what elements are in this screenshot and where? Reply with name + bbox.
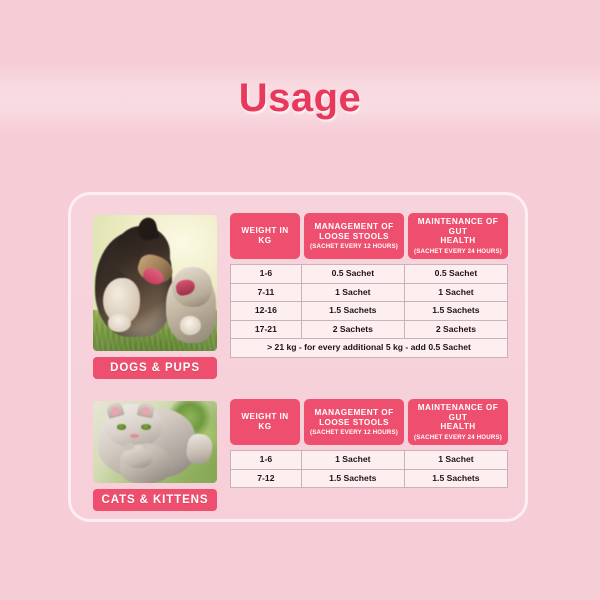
cats-header-gut-health-sub: (SACHET EVERY 24 HOURS) — [414, 434, 502, 441]
dogs-photo-artwork — [93, 215, 217, 351]
cell-gut-health: 1.5 Sachets — [404, 469, 507, 488]
dogs-table-note: > 21 kg - for every additional 5 kg - ad… — [231, 339, 508, 358]
cell-loose-stools: 1.5 Sachets — [301, 302, 404, 321]
dogs-badge: DOGS & PUPS — [93, 357, 217, 379]
cats-dosage-table: 1-6 1 Sachet 1 Sachet 7-12 1.5 Sachets 1… — [230, 450, 508, 488]
cell-gut-health: 1 Sachet — [404, 451, 507, 470]
cats-header-weight-line1: WEIGHT IN — [241, 412, 288, 422]
table-row: 7-11 1 Sachet 1 Sachet — [231, 283, 508, 302]
cats-animal-block: CATS & KITTENS — [93, 401, 217, 511]
cats-header-gut-health: MAINTENANCE OF GUT HEALTH (SACHET EVERY … — [408, 399, 508, 445]
usage-card: DOGS & PUPS WEIGHT IN KG MANAGEMENT OF L… — [68, 192, 528, 522]
cell-weight: 7-12 — [231, 469, 302, 488]
dogs-table-header-row: WEIGHT IN KG MANAGEMENT OF LOOSE STOOLS … — [230, 213, 508, 259]
table-note-row: > 21 kg - for every additional 5 kg - ad… — [231, 339, 508, 358]
dogs-header-loose-stools: MANAGEMENT OF LOOSE STOOLS (SACHET EVERY… — [304, 213, 404, 259]
dogs-header-loose-stools-line2: LOOSE STOOLS — [319, 232, 389, 242]
cell-gut-health: 1 Sachet — [404, 283, 507, 302]
table-row: 17-21 2 Sachets 2 Sachets — [231, 320, 508, 339]
cell-loose-stools: 1 Sachet — [301, 451, 404, 470]
dogs-header-gut-health-sub: (SACHET EVERY 24 HOURS) — [414, 248, 502, 255]
cats-photo — [93, 401, 217, 483]
cats-badge: CATS & KITTENS — [93, 489, 217, 511]
cats-table-header-row: WEIGHT IN KG MANAGEMENT OF LOOSE STOOLS … — [230, 399, 508, 445]
cell-weight: 1-6 — [231, 451, 302, 470]
dogs-header-gut-health: MAINTENANCE OF GUT HEALTH (SACHET EVERY … — [408, 213, 508, 259]
cats-header-weight-line2: KG — [258, 422, 271, 432]
table-row: 7-12 1.5 Sachets 1.5 Sachets — [231, 469, 508, 488]
cats-photo-artwork — [93, 401, 217, 483]
cell-loose-stools: 1.5 Sachets — [301, 469, 404, 488]
table-row: 1-6 0.5 Sachet 0.5 Sachet — [231, 265, 508, 284]
dogs-dosage-table: 1-6 0.5 Sachet 0.5 Sachet 7-11 1 Sachet … — [230, 264, 508, 358]
cell-gut-health: 2 Sachets — [404, 320, 507, 339]
cats-header-loose-stools-line2: LOOSE STOOLS — [319, 418, 389, 428]
dogs-header-loose-stools-line1: MANAGEMENT OF — [314, 222, 393, 232]
cell-gut-health: 1.5 Sachets — [404, 302, 507, 321]
cell-loose-stools: 2 Sachets — [301, 320, 404, 339]
dogs-header-gut-health-line2: HEALTH — [440, 236, 475, 246]
cell-loose-stools: 1 Sachet — [301, 283, 404, 302]
cats-header-loose-stools-sub: (SACHET EVERY 12 HOURS) — [310, 429, 398, 436]
cats-header-loose-stools: MANAGEMENT OF LOOSE STOOLS (SACHET EVERY… — [304, 399, 404, 445]
dogs-header-weight-line1: WEIGHT IN — [241, 226, 288, 236]
cell-weight: 7-11 — [231, 283, 302, 302]
dogs-header-loose-stools-sub: (SACHET EVERY 12 HOURS) — [310, 243, 398, 250]
dogs-header-gut-health-line1: MAINTENANCE OF GUT — [411, 217, 505, 236]
cell-weight: 12-16 — [231, 302, 302, 321]
dogs-header-weight-line2: KG — [258, 236, 271, 246]
dogs-header-weight: WEIGHT IN KG — [230, 213, 300, 259]
table-row: 1-6 1 Sachet 1 Sachet — [231, 451, 508, 470]
cell-weight: 1-6 — [231, 265, 302, 284]
dogs-photo — [93, 215, 217, 351]
cell-weight: 17-21 — [231, 320, 302, 339]
dogs-animal-block: DOGS & PUPS — [93, 215, 217, 379]
cats-header-gut-health-line1: MAINTENANCE OF GUT — [411, 403, 505, 422]
cats-header-gut-health-line2: HEALTH — [440, 422, 475, 432]
cats-header-loose-stools-line1: MANAGEMENT OF — [314, 408, 393, 418]
page-title: Usage — [0, 76, 600, 121]
cell-gut-health: 0.5 Sachet — [404, 265, 507, 284]
cell-loose-stools: 0.5 Sachet — [301, 265, 404, 284]
cats-dosage-table-wrap: WEIGHT IN KG MANAGEMENT OF LOOSE STOOLS … — [230, 399, 508, 488]
cats-header-weight: WEIGHT IN KG — [230, 399, 300, 445]
table-row: 12-16 1.5 Sachets 1.5 Sachets — [231, 302, 508, 321]
dogs-dosage-table-wrap: WEIGHT IN KG MANAGEMENT OF LOOSE STOOLS … — [230, 213, 508, 358]
